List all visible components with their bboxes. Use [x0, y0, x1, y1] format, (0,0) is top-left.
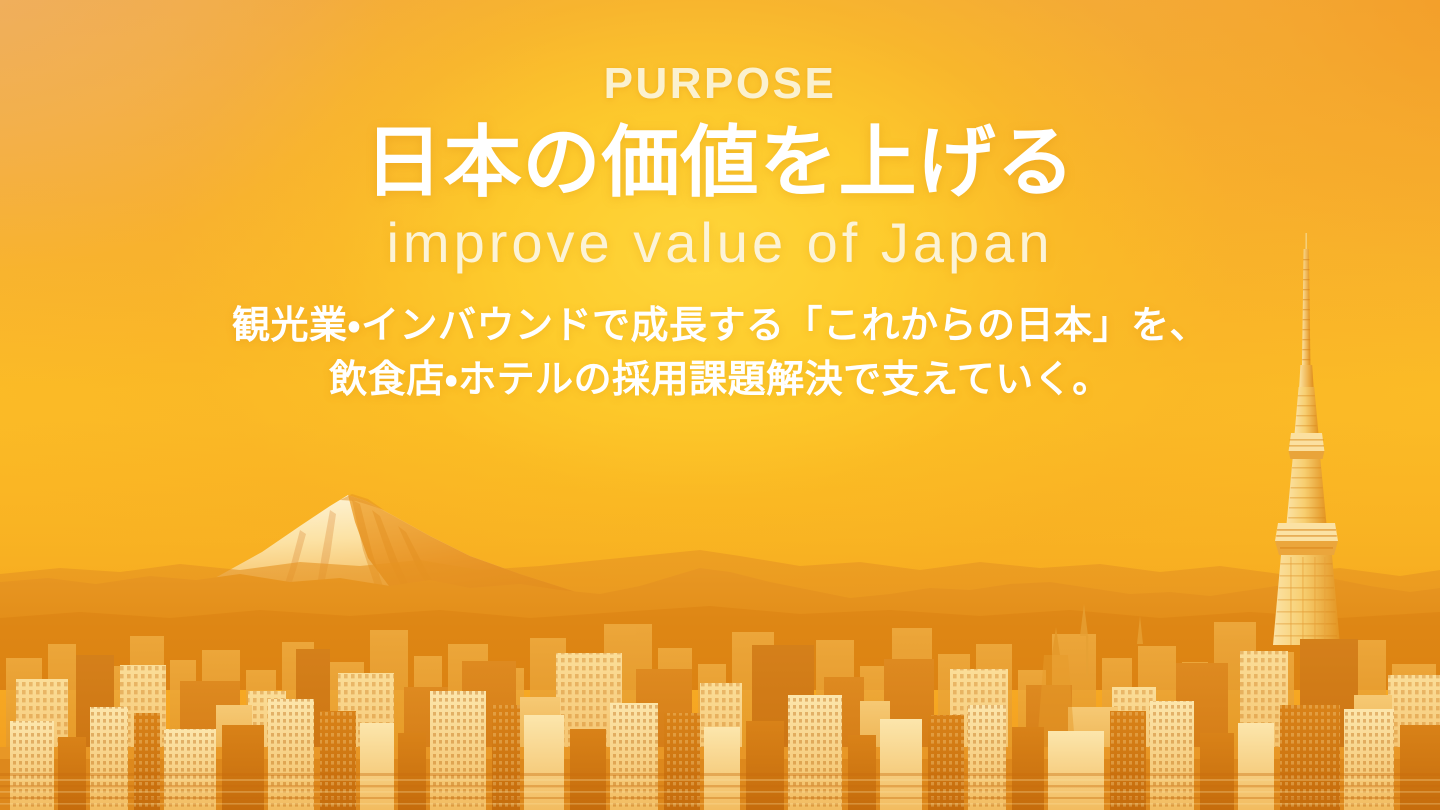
page-title: 日本の価値を上げる [0, 106, 1440, 204]
tokyo-cityscape-near [0, 655, 1440, 810]
purpose-text-block: PURPOSE 日本の価値を上げる improve value of Japan… [0, 0, 1440, 408]
body-copy-line-1: 観光業・インバウンドで成長する「これからの日本」を、 [0, 300, 1440, 354]
purpose-slide: PURPOSE 日本の価値を上げる improve value of Japan… [0, 0, 1440, 810]
body-copy-line-2: 飲食店・ホテルの採用課題解決で支えていく。 [0, 354, 1440, 408]
body-copy: 観光業・インバウンドで成長する「これからの日本」を、 飲食店・ホテルの採用課題解… [0, 274, 1440, 408]
subtitle-english: improve value of Japan [0, 204, 1440, 274]
eyebrow-label: PURPOSE [0, 0, 1440, 106]
